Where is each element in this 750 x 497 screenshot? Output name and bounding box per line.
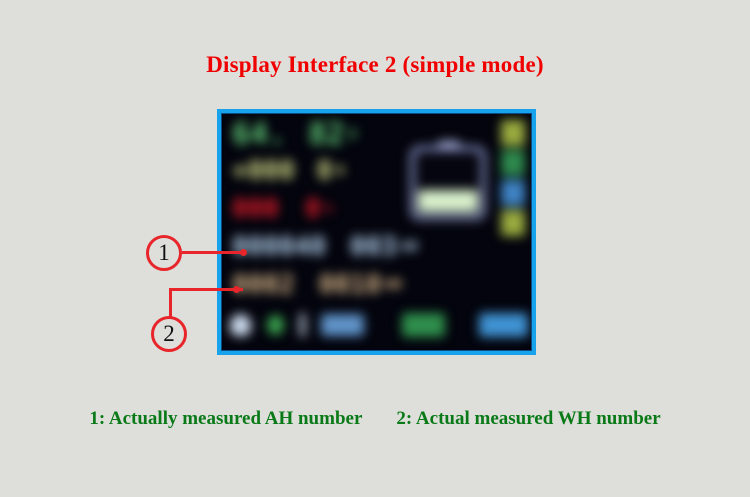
- voltage-secondary: 0: [317, 158, 333, 184]
- voltage-value: +000: [232, 158, 295, 184]
- lcd-screen: 64. 82 V +000 0 A 000 0 % 000040 003 AH: [221, 113, 532, 351]
- legend: 1: Actually measured AH number2: Actual …: [0, 408, 750, 430]
- wh-unit: WH: [385, 278, 402, 292]
- lcd-row-voltage: +000 0 A: [232, 158, 345, 184]
- ah-secondary: 003: [350, 234, 397, 260]
- bar-icon: [300, 313, 306, 337]
- status-chip-3: [501, 180, 525, 206]
- top-secondary: 82: [308, 120, 344, 150]
- status-led-icon: [267, 315, 283, 335]
- status-icon-strip: [230, 308, 528, 342]
- current-unit: %: [325, 202, 333, 216]
- top-unit: V: [348, 128, 356, 142]
- lcd-row-top: 64. 82 V: [232, 120, 357, 150]
- callout-2-leader-line-vertical: [169, 288, 172, 318]
- battery-level-icon: [410, 146, 486, 220]
- battery-fill: [418, 190, 478, 212]
- ok-box-icon: [402, 313, 445, 337]
- status-chip-4: [501, 210, 525, 236]
- current-secondary: 0: [305, 196, 321, 222]
- callout-1-leader-dot: [240, 249, 247, 256]
- status-chip-2: [501, 150, 525, 176]
- callout-2-leader-dot: [233, 286, 240, 293]
- legend-item-1: 1: Actually measured AH number: [89, 408, 362, 429]
- callout-1-leader-line: [182, 251, 243, 254]
- voltage-unit: A: [336, 164, 344, 178]
- callout-marker-1: 1: [146, 235, 182, 271]
- wh-value: 0002: [232, 272, 295, 298]
- ah-unit: AH: [401, 240, 418, 254]
- lcd-row-wh: 0002 0010 WH: [232, 272, 402, 298]
- callout-2-leader-line: [169, 288, 243, 291]
- top-value: 64.: [232, 120, 286, 150]
- page-title: Display Interface 2 (simple mode): [0, 52, 750, 78]
- signal-icon: [230, 314, 251, 336]
- status-chip-1: [501, 120, 525, 146]
- lcd-content: 64. 82 V +000 0 A 000 0 % 000040 003 AH: [222, 114, 531, 350]
- lcd-row-current: 000 0 %: [232, 196, 333, 222]
- info-box-icon: [321, 314, 364, 336]
- current-value: 000: [232, 196, 279, 222]
- lcd-row-ah: 000040 003 AH: [232, 234, 418, 260]
- legend-item-2: 2: Actual measured WH number: [396, 408, 660, 429]
- status-chip-column: [501, 120, 525, 238]
- wh-secondary: 0010: [319, 272, 382, 298]
- device-screen-frame: 64. 82 V +000 0 A 000 0 % 000040 003 AH: [217, 109, 536, 355]
- callout-marker-2: 2: [151, 316, 187, 352]
- ah-value: 000040: [232, 234, 326, 260]
- net-box-icon: [479, 313, 528, 337]
